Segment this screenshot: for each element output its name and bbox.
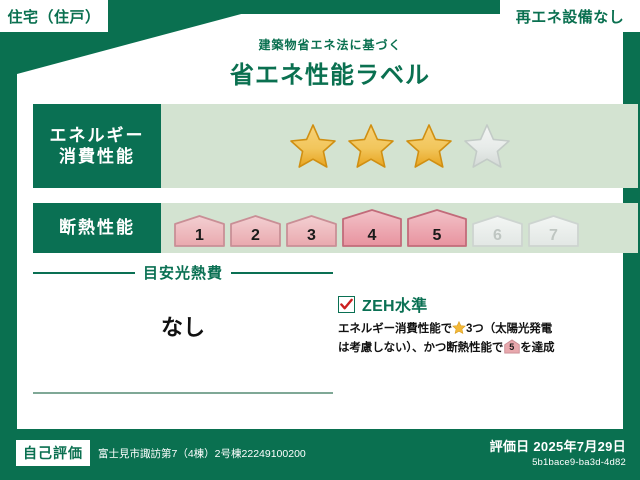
insulation-performance-value-box: 1234567 (161, 203, 638, 253)
insulation-grade-number: 2 (229, 228, 282, 244)
utility-cost-heading-text: 目安光熱費 (143, 262, 223, 283)
insulation-grade-number: 1 (173, 228, 226, 244)
insulation-grade-filled: 3 (285, 214, 338, 248)
insulation-grade-number: 3 (285, 228, 338, 244)
footer-right: 評価日 2025年7月29日 5b1bace9-ba3d-4d82 (490, 436, 626, 468)
rule-left (33, 272, 135, 274)
insulation-grade-empty: 6 (471, 214, 524, 248)
zeh-title: ZEH水準 (362, 292, 428, 316)
utility-cost-value: なし (33, 310, 333, 342)
star-rating (289, 123, 511, 169)
zeh-description: エネルギー消費性能で 3つ（太陽光発電 は考慮しない）、かつ断熱性能で 5 を達… (338, 321, 610, 358)
insulation-grade-scale: 1234567 (173, 208, 580, 248)
star-filled-icon (289, 123, 337, 169)
renewable-energy-tag: 再エネ設備なし (500, 0, 640, 32)
zeh-desc-part3: を達成 (520, 342, 554, 354)
checkmark-icon (338, 296, 355, 313)
inline-house-icon: 5 (504, 339, 519, 353)
insulation-performance-row: 断熱性能 1234567 (33, 203, 638, 253)
label-title: 建築物省エネ法に基づく 省エネ性能ラベル (160, 36, 500, 90)
energy-label-line1: エネルギー (50, 125, 145, 146)
zeh-desc-part1: エネルギー消費性能で (338, 323, 452, 335)
title-subtitle: 建築物省エネ法に基づく (160, 36, 500, 53)
energy-performance-label: 住宅（住戸） 再エネ設備なし 建築物省エネ法に基づく 省エネ性能ラベル エネルギ… (0, 0, 640, 480)
insulation-grade-empty: 7 (527, 214, 580, 248)
insulation-grade-number: 5 (406, 228, 468, 244)
evaluation-date: 評価日 2025年7月29日 (490, 436, 626, 455)
insulation-grade-filled: 5 (406, 208, 468, 248)
insulation-grade-number: 4 (341, 228, 403, 244)
energy-performance-value-box (161, 104, 638, 188)
title-main: 省エネ性能ラベル (160, 55, 500, 90)
energy-performance-label-box: エネルギー 消費性能 (33, 104, 161, 188)
inline-star-icon (452, 321, 466, 334)
star-filled-icon (405, 123, 453, 169)
building-type-tag: 住宅（住戸） (0, 0, 108, 32)
zeh-section: ZEH水準 エネルギー消費性能で 3つ（太陽光発電 は考慮しない）、かつ断熱性能… (338, 292, 610, 358)
energy-performance-row: エネルギー 消費性能 (33, 104, 638, 188)
rule-right (231, 272, 333, 274)
star-filled-icon (347, 123, 395, 169)
evaluation-id: 5b1bace9-ba3d-4d82 (490, 457, 626, 468)
self-evaluation-badge: 自己評価 (16, 440, 90, 466)
footer-left: 自己評価 富士見市諏訪第7（4棟）2号棟22249100200 (16, 440, 306, 466)
insulation-grade-number: 7 (527, 228, 580, 244)
zeh-heading: ZEH水準 (338, 292, 610, 316)
insulation-grade-number: 6 (471, 228, 524, 244)
utility-cost-heading: 目安光熱費 (33, 262, 333, 283)
insulation-label-line1: 断熱性能 (59, 217, 135, 238)
utility-cost-underline (33, 392, 333, 394)
insulation-grade-filled: 1 (173, 214, 226, 248)
zeh-desc-part2: は考慮しない）、かつ断熱性能で (338, 342, 503, 354)
insulation-performance-label-box: 断熱性能 (33, 203, 161, 253)
property-address: 富士見市諏訪第7（4棟）2号棟22249100200 (98, 446, 306, 461)
star-empty-icon (463, 123, 511, 169)
inline-house-grade: 5 (504, 339, 519, 353)
zeh-desc-star-count: 3つ（太陽光発電 (466, 323, 552, 335)
energy-label-line2: 消費性能 (59, 146, 135, 167)
insulation-grade-filled: 4 (341, 208, 403, 248)
insulation-grade-filled: 2 (229, 214, 282, 248)
